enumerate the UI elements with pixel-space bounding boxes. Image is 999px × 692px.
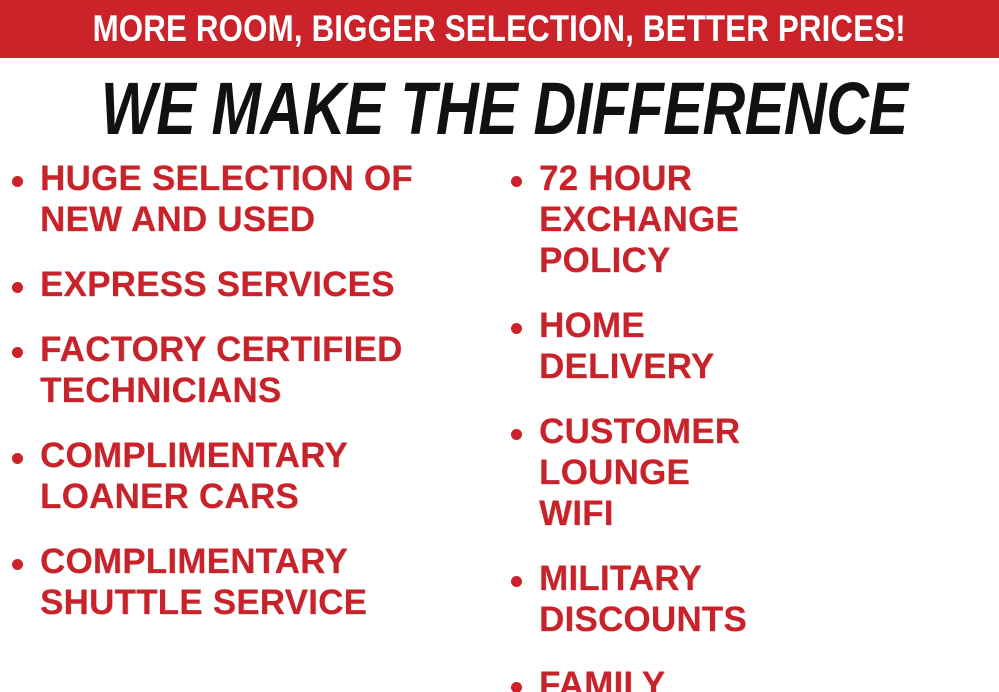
bullet-dot-icon: [511, 429, 522, 440]
benefit-label: CUSTOMER LOUNGE WIFI: [539, 411, 740, 534]
bullet-dot-icon: [511, 176, 522, 187]
benefit-label: 72 HOUR EXCHANGE POLICY: [539, 158, 739, 281]
benefit-label: HOME DELIVERY: [539, 305, 714, 387]
headline-text: WE MAKE THE DIFFERENCE: [101, 72, 908, 146]
benefits-column-right: 72 HOUR EXCHANGE POLICY HOME DELIVERY CU…: [0, 158, 513, 692]
bullet-dot-icon: [511, 682, 522, 692]
promo-banner-text: MORE ROOM, BIGGER SELECTION, BETTER PRIC…: [93, 10, 906, 48]
headline: WE MAKE THE DIFFERENCE: [0, 72, 999, 146]
bullet-dot-icon: [511, 323, 522, 334]
benefits-section: HUGE SELECTION OF NEW AND USED EXPRESS S…: [0, 158, 999, 692]
benefit-label: FAMILY OWNED AND OPERATED: [539, 664, 732, 692]
benefit-label: MILITARY DISCOUNTS: [539, 558, 747, 640]
bullet-dot-icon: [511, 576, 522, 587]
advertisement-banner: MORE ROOM, BIGGER SELECTION, BETTER PRIC…: [0, 0, 999, 692]
promo-banner: MORE ROOM, BIGGER SELECTION, BETTER PRIC…: [0, 0, 999, 58]
